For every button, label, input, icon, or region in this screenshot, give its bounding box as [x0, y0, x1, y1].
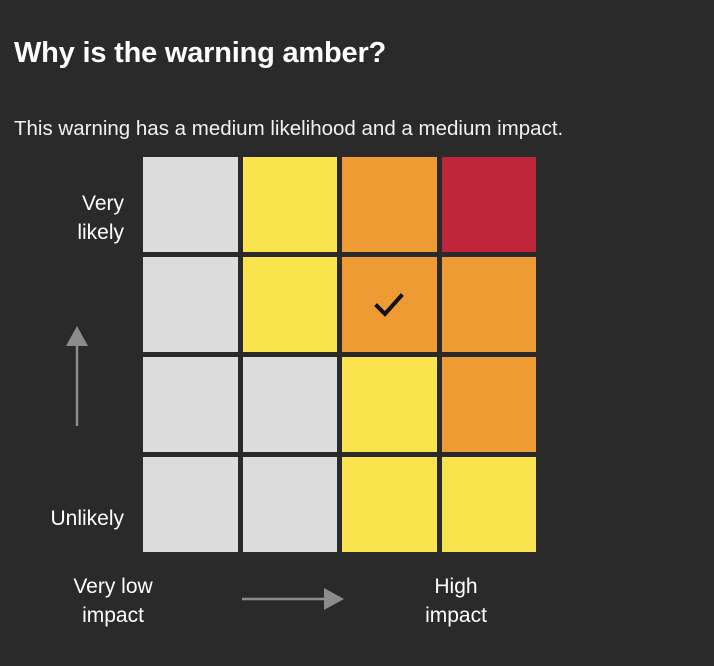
matrix-cell: [342, 157, 437, 252]
x-axis-right-label-line2: impact: [425, 604, 487, 627]
matrix-cell: [342, 457, 437, 552]
arrow-up-icon: [62, 322, 92, 428]
y-axis-top-label-line1: Very: [82, 192, 124, 215]
x-axis-left-label-line2: impact: [82, 604, 144, 627]
matrix-cell: [243, 157, 338, 252]
x-axis-left-label-line1: Very low: [73, 575, 152, 598]
x-axis-right-label: High impact: [383, 572, 529, 630]
risk-matrix: [143, 157, 536, 552]
page-subtitle: This warning has a medium likelihood and…: [14, 117, 563, 141]
x-axis-right-label-line1: High: [434, 575, 477, 598]
matrix-cell: [143, 257, 238, 352]
matrix-cell: [342, 357, 437, 452]
page-title: Why is the warning amber?: [14, 37, 386, 70]
matrix-cell: [243, 257, 338, 352]
matrix-cell: [442, 157, 537, 252]
arrow-right-icon: [240, 587, 348, 611]
y-axis-top-label-line2: likely: [77, 221, 124, 244]
y-axis-bottom-label: Unlikely: [0, 504, 124, 533]
matrix-cell: [143, 357, 238, 452]
matrix-cell: [243, 357, 338, 452]
matrix-cell: [143, 157, 238, 252]
checkmark-icon: [373, 289, 405, 321]
matrix-cell: [442, 257, 537, 352]
matrix-cell: [243, 457, 338, 552]
matrix-cell: [442, 357, 537, 452]
y-axis-top-label: Very likely: [0, 189, 124, 247]
x-axis-left-label: Very low impact: [38, 572, 188, 630]
matrix-cell: [143, 457, 238, 552]
matrix-cell: [342, 257, 437, 352]
matrix-cell: [442, 457, 537, 552]
